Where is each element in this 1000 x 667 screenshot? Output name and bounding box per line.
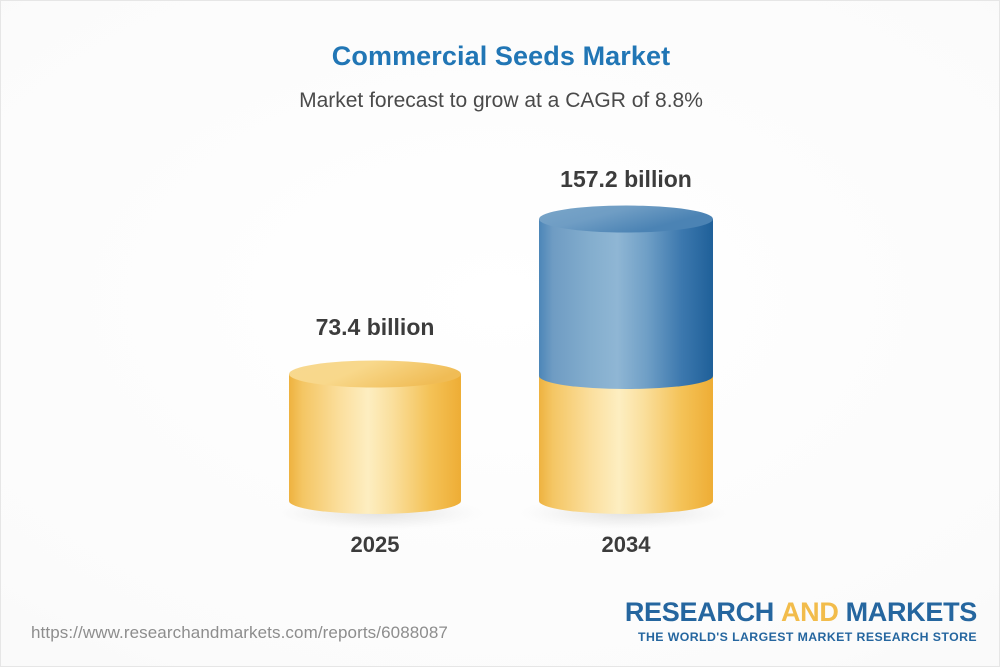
chart-canvas: Commercial Seeds Market Market forecast … (0, 0, 1000, 667)
bar-cylinder-2025[interactable] (289, 361, 461, 515)
logo-tagline: THE WORLD'S LARGEST MARKET RESEARCH STOR… (625, 631, 977, 643)
logo-word-research: RESEARCH (625, 597, 774, 627)
category-label-2025: 2025 (289, 532, 461, 558)
bar-value-label-2034: 157.2 billion (539, 166, 713, 193)
category-label-2034: 2034 (539, 532, 713, 558)
research-and-markets-logo[interactable]: RESEARCHANDMARKETS THE WORLD'S LARGEST M… (625, 599, 977, 643)
bar-value-label-2025: 73.4 billion (289, 314, 461, 341)
logo-wordmark: RESEARCHANDMARKETS (625, 599, 977, 626)
logo-word-markets: MARKETS (846, 597, 977, 627)
cylinder-chart (1, 1, 1000, 601)
report-url[interactable]: https://www.researchandmarkets.com/repor… (31, 623, 448, 643)
bar-cylinder-2034[interactable] (539, 206, 713, 515)
logo-word-and: AND (781, 597, 839, 627)
